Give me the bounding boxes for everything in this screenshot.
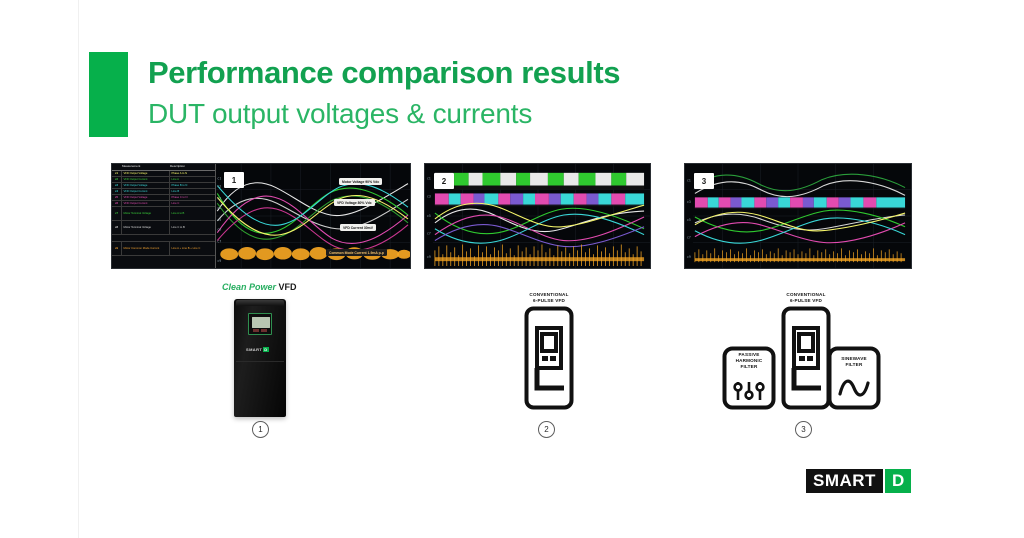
- svg-text:c1: c1: [687, 179, 691, 183]
- clean-power-text: Clean Power: [222, 282, 276, 292]
- svg-text:c3: c3: [427, 194, 431, 198]
- row-measurement: Motor Terminal Voltage: [122, 221, 170, 234]
- row-description: Line A to B: [170, 212, 215, 215]
- row-description: Phase C to N: [170, 196, 215, 199]
- title-accent-bar: [89, 52, 128, 137]
- caption-line-3: FILTER: [718, 364, 780, 370]
- cabinet-top-vent: [236, 300, 284, 306]
- row-channel: c1: [112, 171, 122, 176]
- conventional-vfd-caption-3: CONVENTIONAL 6-PULSE VFD: [765, 292, 847, 304]
- row-measurement: VFD Output Current: [122, 189, 170, 194]
- caption-line-2: 6-PULSE VFD: [765, 298, 847, 304]
- callout-motor-voltage: Motor Voltage 90% Vdc: [339, 178, 382, 185]
- table-row-empty: [112, 235, 215, 242]
- clean-power-vfd-label: Clean Power VFD: [222, 282, 297, 292]
- page-title: Performance comparison results: [148, 52, 620, 94]
- row-description: Line C: [170, 202, 215, 205]
- conventional-vfd-caption-2: CONVENTIONAL 6-PULSE VFD: [508, 292, 590, 304]
- table-row: c7 Motor Terminal Voltage Line A to B: [112, 207, 215, 221]
- cabinet-button-left: [253, 329, 259, 332]
- row-channel: c7: [112, 207, 122, 220]
- caption-line-2: FILTER: [823, 362, 885, 368]
- callout-vfd-current: VFD Current 30mV: [340, 224, 376, 231]
- scope-badge-1: 1: [224, 172, 244, 188]
- svg-text:c6: c6: [217, 228, 221, 232]
- svg-text:c7: c7: [217, 240, 221, 244]
- vfd-icon: [524, 306, 574, 410]
- svg-text:c5: c5: [217, 218, 221, 222]
- col-description: Description: [170, 165, 215, 168]
- clean-power-vfd-cabinet: SMARTD: [234, 299, 286, 417]
- scope-3-waveforms: c1c3 c5c7c9: [685, 164, 911, 268]
- cabinet-display-panel: [248, 313, 272, 335]
- cabinet-logo-smart: SMART: [246, 347, 262, 352]
- svg-text:c7: c7: [687, 236, 691, 240]
- svg-text:c5: c5: [687, 218, 691, 222]
- cabinet-panel-seam: [236, 361, 284, 362]
- caption-line-2: 6-PULSE VFD: [508, 298, 590, 304]
- row-description: Phase B to N: [170, 184, 215, 187]
- row-description: Line C to B: [170, 226, 215, 229]
- cabinet-logo: SMARTD: [246, 347, 269, 352]
- callout-vfd-voltage: VFD Voltage 80% Vdc: [334, 199, 375, 206]
- scope-badge-3: 3: [694, 173, 714, 189]
- scope-2-waveforms: c1c3 c5c7c9: [425, 164, 650, 268]
- page-subtitle: DUT output voltages & currents: [148, 94, 620, 134]
- svg-text:c3: c3: [687, 200, 691, 204]
- row-measurement: VFD Output Voltage: [122, 171, 170, 176]
- row-description: Line A + Line B + Line C: [170, 247, 215, 250]
- scope-badge-2: 2: [434, 173, 454, 189]
- equipment-badge-1: 1: [252, 421, 269, 438]
- row-description: Line B: [170, 190, 215, 193]
- row-channel: c3: [112, 183, 122, 188]
- cabinet-lcd-screen: [252, 317, 270, 328]
- row-channel: c6: [112, 201, 122, 206]
- row-measurement: VFD Output Current: [122, 177, 170, 182]
- slide-root: Performance comparison results DUT outpu…: [0, 0, 1024, 538]
- oscilloscope-panel-3: c1c3 c5c7c9 3: [684, 163, 912, 269]
- measurement-table-header: Measurement Description: [112, 164, 215, 171]
- cabinet-button-right: [261, 329, 267, 332]
- row-measurement: VFD Output Voltage: [122, 195, 170, 200]
- sinewave-filter-caption: SINEWAVE FILTER: [823, 356, 885, 368]
- row-channel: c8: [112, 221, 122, 234]
- svg-text:c3: c3: [217, 196, 221, 200]
- svg-text:c1: c1: [217, 177, 221, 181]
- title-block: Performance comparison results DUT outpu…: [148, 52, 620, 134]
- svg-text:c4: c4: [217, 206, 221, 210]
- passive-harmonic-filter-caption: PASSIVE HARMONIC FILTER: [718, 352, 780, 370]
- svg-text:c9: c9: [217, 259, 221, 263]
- svg-text:c9: c9: [687, 255, 691, 259]
- row-channel: c5: [112, 195, 122, 200]
- svg-text:c2: c2: [217, 185, 221, 189]
- logo-d-text: D: [885, 469, 911, 493]
- equipment-badge-3: 3: [795, 421, 812, 438]
- callout-common-mode-current: Common Mode Current 1.9mA p-p: [326, 249, 387, 256]
- col-measurement: Measurement: [122, 165, 170, 168]
- svg-text:c5: c5: [427, 214, 431, 218]
- row-channel: c2: [112, 177, 122, 182]
- row-measurement: Motor Common Mode Current: [122, 242, 170, 255]
- page-divider: [78, 0, 79, 538]
- equipment-badge-2: 2: [538, 421, 555, 438]
- measurement-table: Measurement Description c1 VFD Output Vo…: [112, 164, 216, 269]
- oscilloscope-panel-2: c1c3 c5c7c9 2: [424, 163, 651, 269]
- logo-smart-text: SMART: [806, 469, 883, 493]
- row-measurement: VFD Output Current: [122, 201, 170, 206]
- row-measurement: Motor Terminal Voltage: [122, 207, 170, 220]
- row-description: Line A: [170, 178, 215, 181]
- vfd-text: VFD: [279, 282, 297, 292]
- row-channel: c4: [112, 189, 122, 194]
- table-row: c8 Motor Terminal Voltage Line C to B: [112, 221, 215, 235]
- smartd-logo: SMART D: [806, 469, 911, 493]
- oscilloscope-panel-1: c1c2 c3c4 c5c6 c7c9 Measurement Descript…: [111, 163, 411, 269]
- cabinet-logo-d: D: [263, 347, 268, 352]
- row-channel: c9: [112, 242, 122, 255]
- row-measurement: VFD Output Voltage: [122, 183, 170, 188]
- svg-text:c7: c7: [427, 232, 431, 236]
- table-row: c9 Motor Common Mode Current Line A + Li…: [112, 242, 215, 256]
- row-description: Phase A to N: [170, 172, 215, 175]
- svg-text:c9: c9: [427, 255, 431, 259]
- svg-text:c1: c1: [427, 177, 431, 181]
